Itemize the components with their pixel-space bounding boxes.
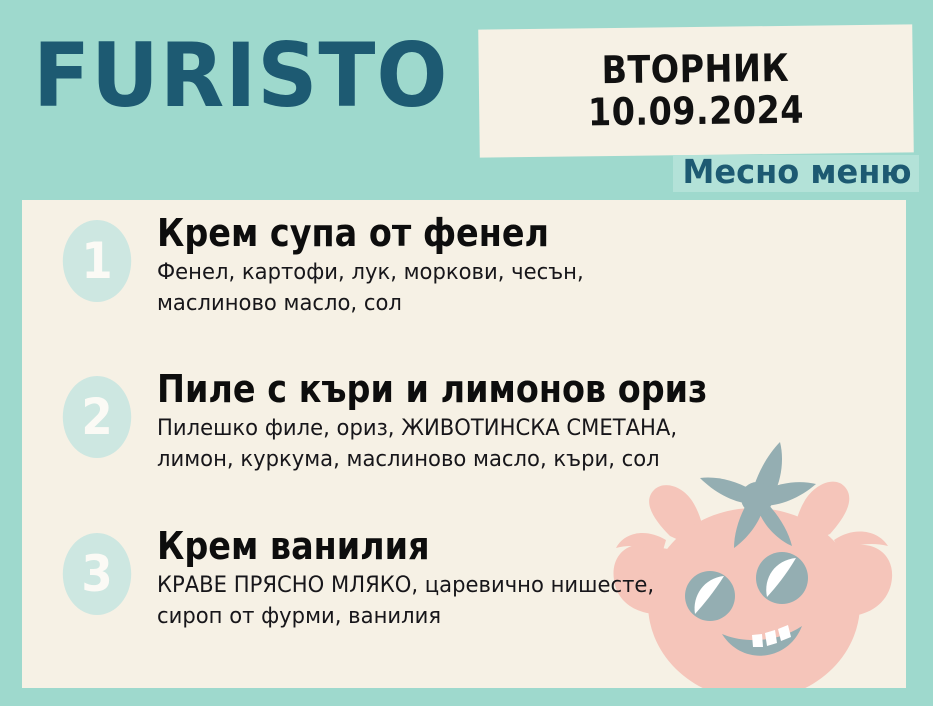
- menu-item-text: Пиле с къри и лимонов ориз Пилешко филе,…: [157, 368, 906, 475]
- date-label: 10.09.2024: [588, 91, 804, 134]
- menu-item-number-badge: 1: [63, 220, 131, 302]
- brand-logo: FURISTO: [33, 32, 448, 120]
- dish-name: Крем супа от фенел: [157, 212, 816, 255]
- dish-name: Крем ванилия: [157, 525, 816, 568]
- menu-item: 2 Пиле с къри и лимонов ориз Пилешко фил…: [22, 368, 906, 475]
- menu-item-text: Крем ванилия КРАВЕ ПРЯСНО МЛЯКО, царевич…: [157, 525, 906, 632]
- menu-poster: FURISTO ВТОРНИК 10.09.2024 Месно меню: [0, 0, 933, 706]
- menu-kind-banner: Месно меню: [673, 155, 919, 192]
- menu-item-number-badge: 3: [63, 533, 131, 615]
- menu-kind-label: Месно меню: [683, 155, 912, 190]
- menu-panel: 1 Крем супа от фенел Фенел, картофи, лук…: [22, 200, 906, 688]
- dish-ingredients: Пилешко филе, ориз, ЖИВОТИНСКА СМЕТАНА, …: [157, 413, 876, 475]
- dish-ingredients: Фенел, картофи, лук, моркови, чесън, мас…: [157, 257, 876, 319]
- date-card: ВТОРНИК 10.09.2024: [478, 24, 914, 157]
- dish-name: Пиле с къри и лимонов ориз: [157, 368, 816, 411]
- menu-item-number-badge: 2: [63, 376, 131, 458]
- menu-item: 1 Крем супа от фенел Фенел, картофи, лук…: [22, 212, 906, 319]
- menu-item: 3 Крем ванилия КРАВЕ ПРЯСНО МЛЯКО, царев…: [22, 525, 906, 632]
- menu-item-text: Крем супа от фенел Фенел, картофи, лук, …: [157, 212, 906, 319]
- poster-header: FURISTO ВТОРНИК 10.09.2024 Месно меню: [0, 0, 933, 200]
- weekday-label: ВТОРНИК: [602, 49, 790, 91]
- dish-ingredients: КРАВЕ ПРЯСНО МЛЯКО, царевично нишесте, с…: [157, 570, 876, 632]
